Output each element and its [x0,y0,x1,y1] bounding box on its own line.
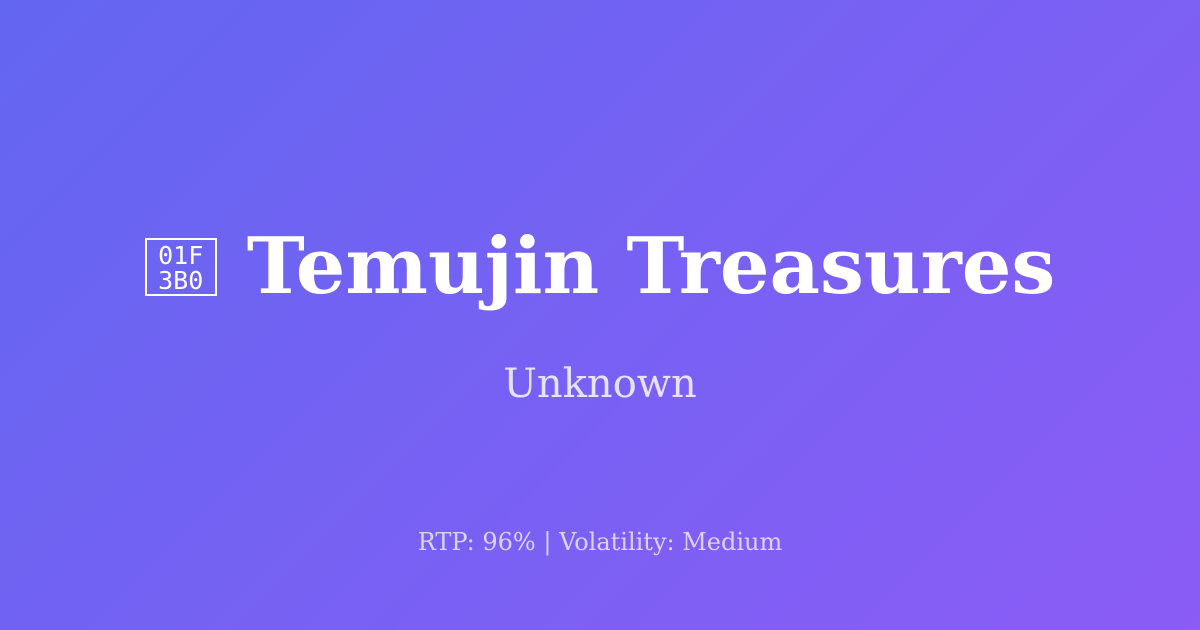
hero-block: 01F 3B0 Temujin Treasures Unknown [0,228,1200,404]
game-meta-line: RTP: 96% | Volatility: Medium [0,528,1200,556]
page-title: Temujin Treasures [247,228,1056,306]
slot-machine-icon-codepoint-top: 01F [158,243,203,268]
slot-machine-icon: 01F 3B0 [145,238,217,296]
og-card: 01F 3B0 Temujin Treasures Unknown RTP: 9… [0,0,1200,630]
title-row: 01F 3B0 Temujin Treasures [145,228,1056,306]
slot-machine-icon-codepoint-bottom: 3B0 [158,268,203,293]
provider-subtitle: Unknown [503,306,697,404]
